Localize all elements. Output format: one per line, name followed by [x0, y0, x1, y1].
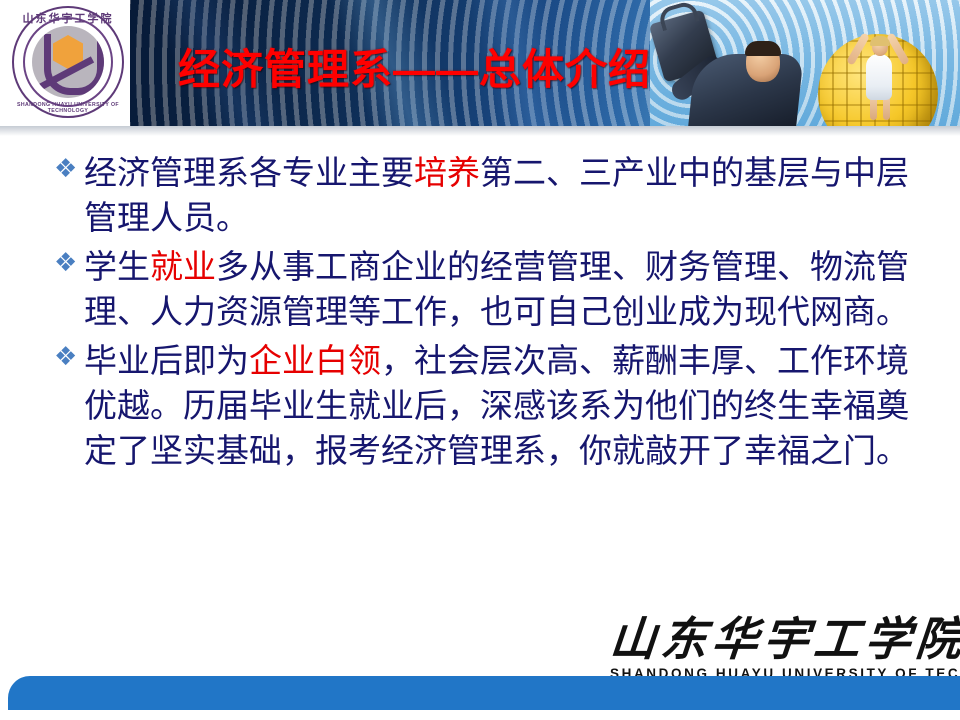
bullet-text: 经济管理系各专业主要培养第二、三产业中的基层与中层管理人员。 — [84, 150, 934, 240]
bullet-diamond-icon: ❖ — [54, 244, 84, 276]
slide-canvas: 经济管理系——总体介绍 山东华宇工学院 SHANDONG HUAYU UNIVE… — [0, 0, 960, 720]
slide-body: ❖ 经济管理系各专业主要培养第二、三产业中的基层与中层管理人员。 ❖ 学生就业多… — [54, 150, 934, 477]
seal-english-name: SHANDONG HUAYU UNIVERSITY OF TECHNOLOGY — [12, 102, 124, 114]
bullet-segment: 经济管理系各专业主要 — [84, 153, 414, 192]
businessman-hair — [745, 41, 781, 56]
bullet-item: ❖ 毕业后即为企业白领，社会层次高、薪酬丰厚、工作环境优越。历届毕业生就业后，深… — [54, 338, 934, 473]
footer-name-chinese: 山东华宇工学院 — [607, 610, 952, 668]
bullet-segment-highlight: 企业白领 — [249, 341, 381, 380]
seal-chinese-name: 山东华宇工学院 — [12, 10, 124, 26]
bullet-diamond-icon: ❖ — [54, 150, 84, 182]
bullet-item: ❖ 经济管理系各专业主要培养第二、三产业中的基层与中层管理人员。 — [54, 150, 934, 240]
bullet-segment-highlight: 培养 — [414, 153, 480, 192]
seal-disc — [32, 26, 104, 98]
university-seal-logo: 山东华宇工学院 SHANDONG HUAYU UNIVERSITY OF TEC… — [12, 6, 124, 118]
title-banner: 经济管理系——总体介绍 — [130, 0, 960, 126]
banner-photo — [650, 0, 960, 126]
woman-body — [866, 54, 892, 100]
slide-title: 经济管理系——总体介绍 — [178, 36, 651, 97]
woman-hair — [870, 36, 890, 46]
banner-drop-shadow — [0, 126, 960, 136]
bullet-segment-highlight: 就业 — [150, 247, 216, 286]
bullet-text: 学生就业多从事工商企业的经营管理、财务管理、物流管理、人力资源管理等工作，也可自… — [84, 244, 934, 334]
bullet-item: ❖ 学生就业多从事工商企业的经营管理、财务管理、物流管理、人力资源管理等工作，也… — [54, 244, 934, 334]
bullet-segment: 毕业后即为 — [84, 341, 249, 380]
bullet-text: 毕业后即为企业白领，社会层次高、薪酬丰厚、工作环境优越。历届毕业生就业后，深感该… — [84, 338, 934, 473]
footer-blue-bar — [8, 676, 960, 710]
bullet-segment: 学生 — [84, 247, 150, 286]
bullet-diamond-icon: ❖ — [54, 338, 84, 370]
slide-header: 经济管理系——总体介绍 山东华宇工学院 SHANDONG HUAYU UNIVE… — [0, 0, 960, 133]
